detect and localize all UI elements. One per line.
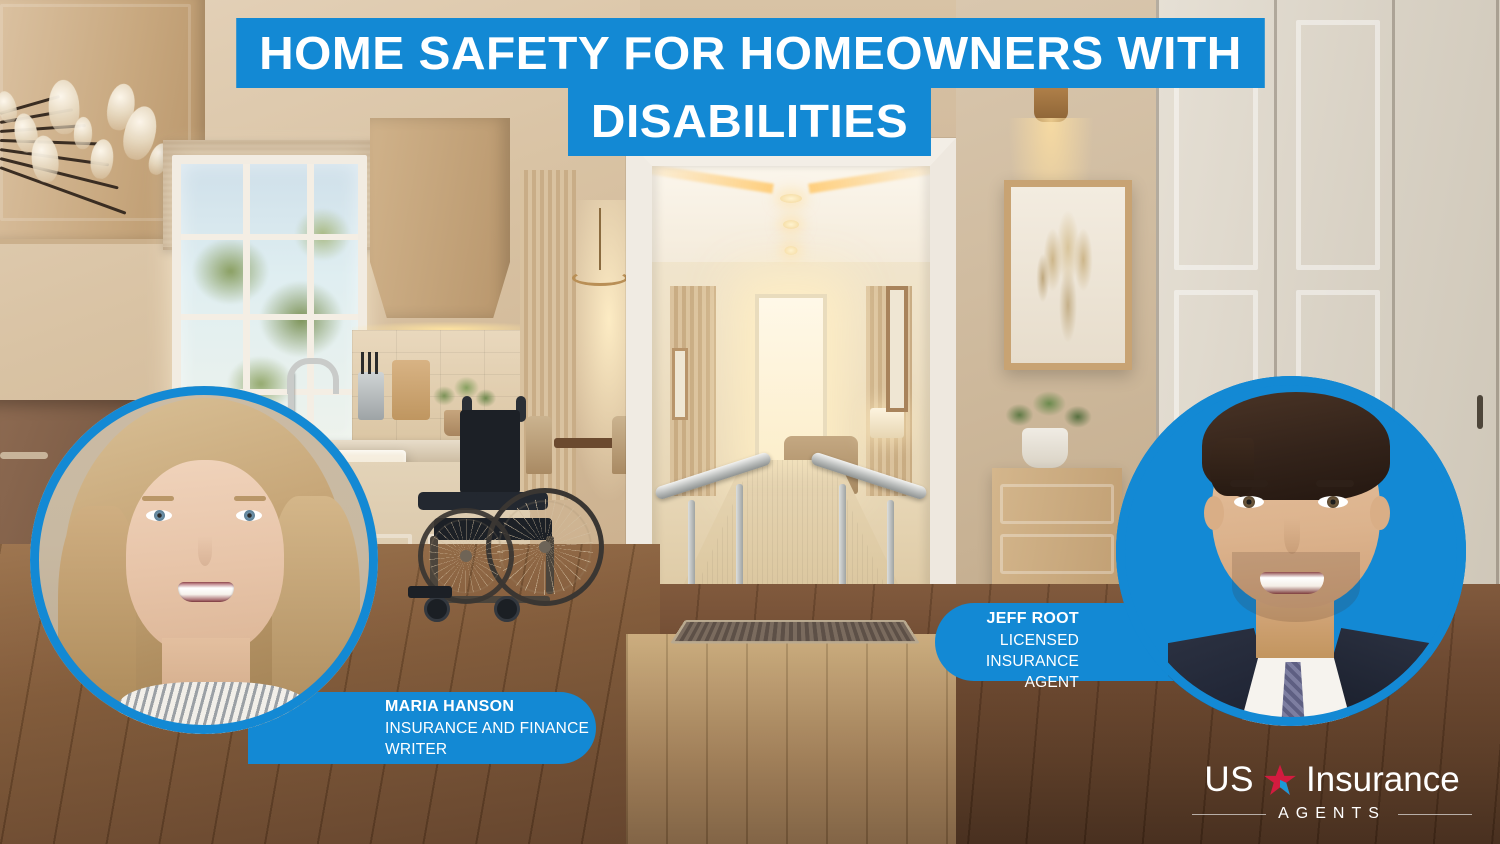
eye-right [236, 510, 262, 521]
title-line-1: HOME SAFETY FOR HOMEOWNERS WITH [236, 18, 1264, 88]
window-mullion [181, 314, 358, 320]
hallway-doorway [626, 138, 956, 650]
iris [154, 510, 165, 521]
hallway-floor [626, 634, 956, 844]
ear-left [1204, 496, 1224, 530]
nose [198, 536, 212, 566]
avatar-photo [30, 386, 378, 734]
person-role-line-2: AGENT [935, 672, 1079, 693]
eye-left [1234, 496, 1264, 508]
star-icon [1263, 764, 1297, 797]
person-role-line-2: WRITER [385, 739, 596, 760]
dresser-drawer [1000, 484, 1114, 524]
mouth [1260, 572, 1324, 594]
eyebrow-right [234, 496, 266, 501]
eye-left [146, 510, 172, 521]
door-casing [626, 138, 956, 650]
person-name: JEFF ROOT [935, 608, 1079, 630]
slide-canvas: HOME SAFETY FOR HOMEOWNERS WITH DISABILI… [0, 0, 1500, 844]
logo-wordmark: US Insurance [1192, 760, 1472, 800]
dresser-drawer [1000, 534, 1114, 574]
logo-tagline-row: AGENTS [1192, 805, 1472, 823]
avatar-photo [1116, 376, 1466, 726]
title-line-2: DISABILITIES [569, 86, 932, 156]
striped-shirt [118, 682, 308, 734]
eyebrow-left [142, 496, 174, 501]
wheel-hub [539, 541, 551, 553]
chandelier-ring [572, 270, 628, 286]
brand-logo[interactable]: US Insurance AGENTS [1192, 760, 1472, 823]
avatar-jeff-root [1116, 376, 1466, 726]
wheelchair-backrest [460, 410, 520, 494]
logo-tagline: AGENTS [1278, 805, 1386, 823]
wheel-hub [460, 550, 472, 562]
logo-word-insurance: Insurance [1306, 760, 1460, 800]
person-name: MARIA HANSON [385, 696, 596, 718]
avatar-maria-hanson [30, 386, 378, 734]
wheelchair [400, 400, 590, 630]
wheelchair-footrest [408, 586, 452, 598]
plant-pot [1022, 428, 1068, 468]
logo-rule-right [1398, 814, 1472, 815]
pampas-grass-artwork [1023, 199, 1113, 351]
eyebrow-left [1230, 480, 1268, 487]
door-handle [1477, 395, 1483, 429]
eyebrow-right [1316, 480, 1354, 487]
ear-right [1370, 496, 1390, 530]
wheelchair-caster [424, 596, 450, 622]
mouth [178, 582, 234, 602]
chandelier-rod [599, 208, 601, 270]
framed-pampas-art [1004, 180, 1132, 370]
iris [1327, 496, 1339, 508]
wheelchair-caster [494, 596, 520, 622]
person-role-line-1: LICENSED INSURANCE [935, 630, 1079, 672]
dining-chandelier [572, 248, 628, 290]
door-mat [670, 620, 920, 643]
iris [1243, 496, 1255, 508]
iris [244, 510, 255, 521]
person-role-line-1: INSURANCE AND FINANCE [385, 718, 596, 739]
page-title: HOME SAFETY FOR HOMEOWNERS WITH DISABILI… [0, 18, 1500, 156]
nose [1284, 518, 1300, 554]
logo-rule-left [1192, 814, 1266, 815]
window-mullion [181, 234, 358, 240]
logo-word-us: US [1204, 760, 1254, 800]
eye-right [1318, 496, 1348, 508]
